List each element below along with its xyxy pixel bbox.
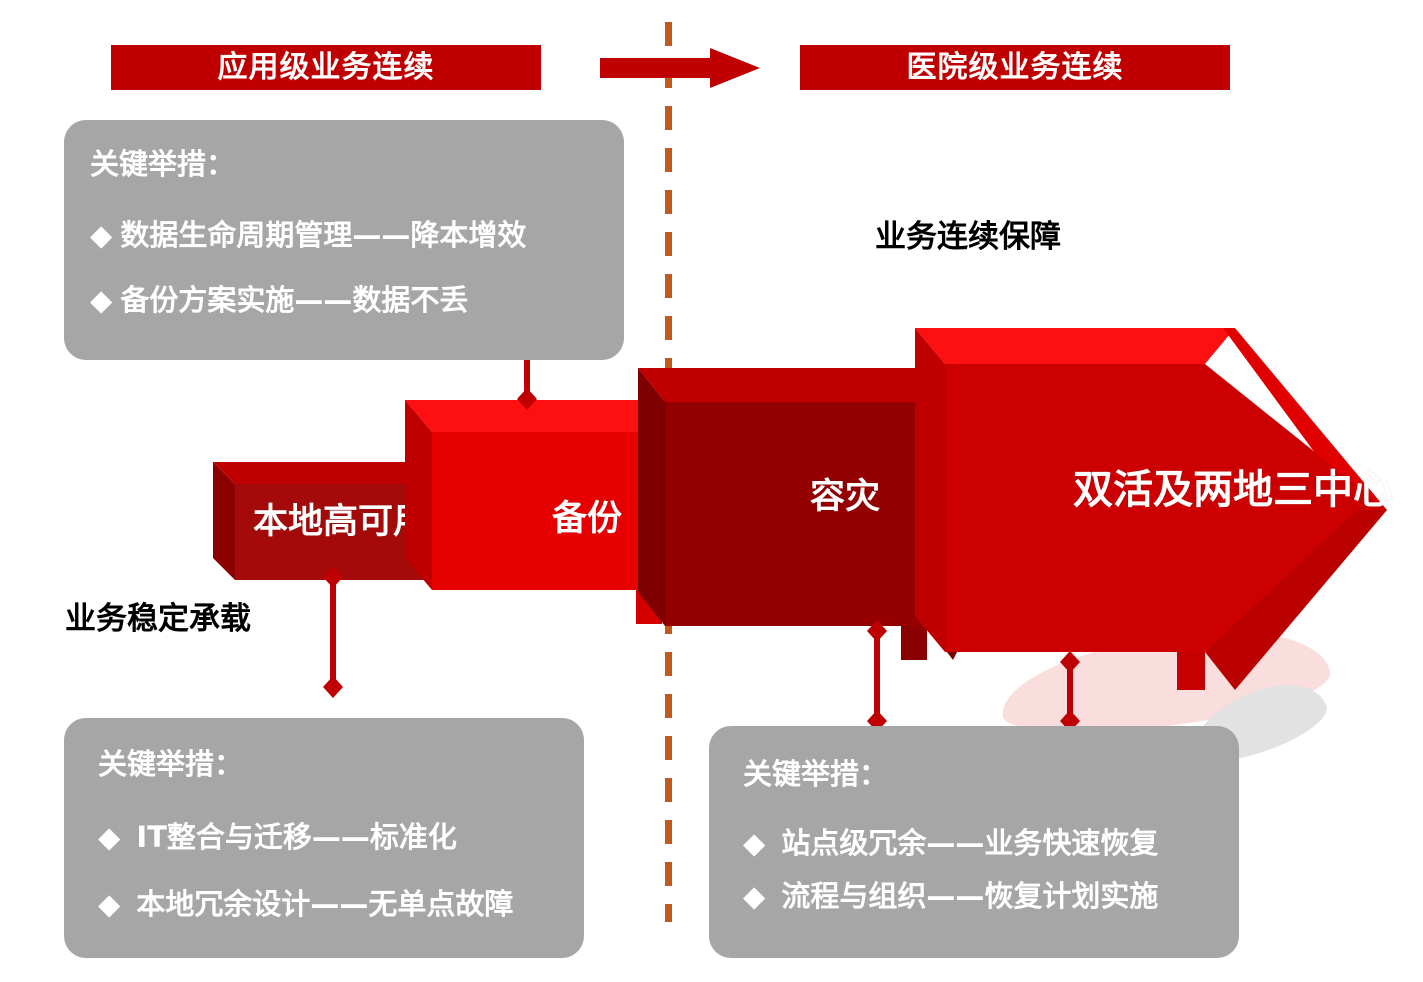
transition-right-arrow-icon <box>600 48 760 88</box>
connector-active-active-to-bottom-right-card <box>1059 651 1081 732</box>
card-item-text: 本地冗余设计——无单点故障 <box>136 887 513 921</box>
diamond-bullet-icon: ◆ <box>90 286 112 315</box>
diamond-bullet-icon: ◆ <box>743 829 765 858</box>
card-bottom-left-measures: 关键举措： ◆IT整合与迁移——标准化 ◆本地冗余设计——无单点故障 <box>64 718 584 958</box>
card-title-bottom-left: 关键举措： <box>98 750 550 779</box>
card-title-bottom-right: 关键举措： <box>743 760 1205 789</box>
diamond-bullet-icon: ◆ <box>98 823 120 852</box>
card-item-text: 流程与组织——恢复计划实施 <box>781 879 1158 913</box>
card-top-left-measures: 关键举措： ◆数据生命周期管理——降本增效 ◆备份方案实施——数据不丢 <box>64 120 624 360</box>
card-item-bottom-left-2: ◆本地冗余设计——无单点故障 <box>98 890 550 919</box>
connector-disaster-rec-to-bottom-right-card <box>866 620 888 732</box>
diamond-bullet-icon: ◆ <box>743 882 765 911</box>
card-item-bottom-left-1: ◆IT整合与迁移——标准化 <box>98 823 550 852</box>
card-item-bottom-right-1: ◆站点级冗余——业务快速恢复 <box>743 829 1205 858</box>
caption-business-continuity-guarantee: 业务连续保障 <box>875 222 1061 253</box>
card-item-top-left-2: ◆备份方案实施——数据不丢 <box>90 286 598 315</box>
stage-arrow-label-active-active: 双活及两地三中心 <box>1073 470 1393 510</box>
caption-business-stable-carrying: 业务稳定承载 <box>65 604 251 635</box>
banner-application-level: 应用级业务连续 <box>111 45 541 90</box>
diamond-bullet-icon: ◆ <box>98 890 120 919</box>
card-item-text: 站点级冗余——业务快速恢复 <box>781 826 1158 860</box>
diamond-bullet-icon: ◆ <box>90 221 112 250</box>
card-bottom-right-measures: 关键举措： ◆站点级冗余——业务快速恢复 ◆流程与组织——恢复计划实施 <box>709 726 1239 958</box>
stage-arrow-label-backup: 备份 <box>552 502 622 537</box>
stage-arrow-active-active[interactable]: 双活及两地三中心 <box>905 280 1405 710</box>
card-item-bottom-right-2: ◆流程与组织——恢复计划实施 <box>743 882 1205 911</box>
card-item-text: 数据生命周期管理——降本增效 <box>120 218 526 252</box>
card-item-top-left-1: ◆数据生命周期管理——降本增效 <box>90 221 598 250</box>
connector-local-ha-to-bottom-left-card <box>322 566 344 698</box>
card-title-top-left: 关键举措： <box>90 150 598 179</box>
banner-hospital-level: 医院级业务连续 <box>800 45 1230 90</box>
card-item-text: 备份方案实施——数据不丢 <box>120 283 468 317</box>
diagram-canvas: 应用级业务连续 医院级业务连续 本地高可用 <box>0 0 1423 982</box>
card-item-text: IT整合与迁移——标准化 <box>136 820 457 854</box>
stage-arrow-label-disaster-recovery: 容灾 <box>810 480 880 515</box>
